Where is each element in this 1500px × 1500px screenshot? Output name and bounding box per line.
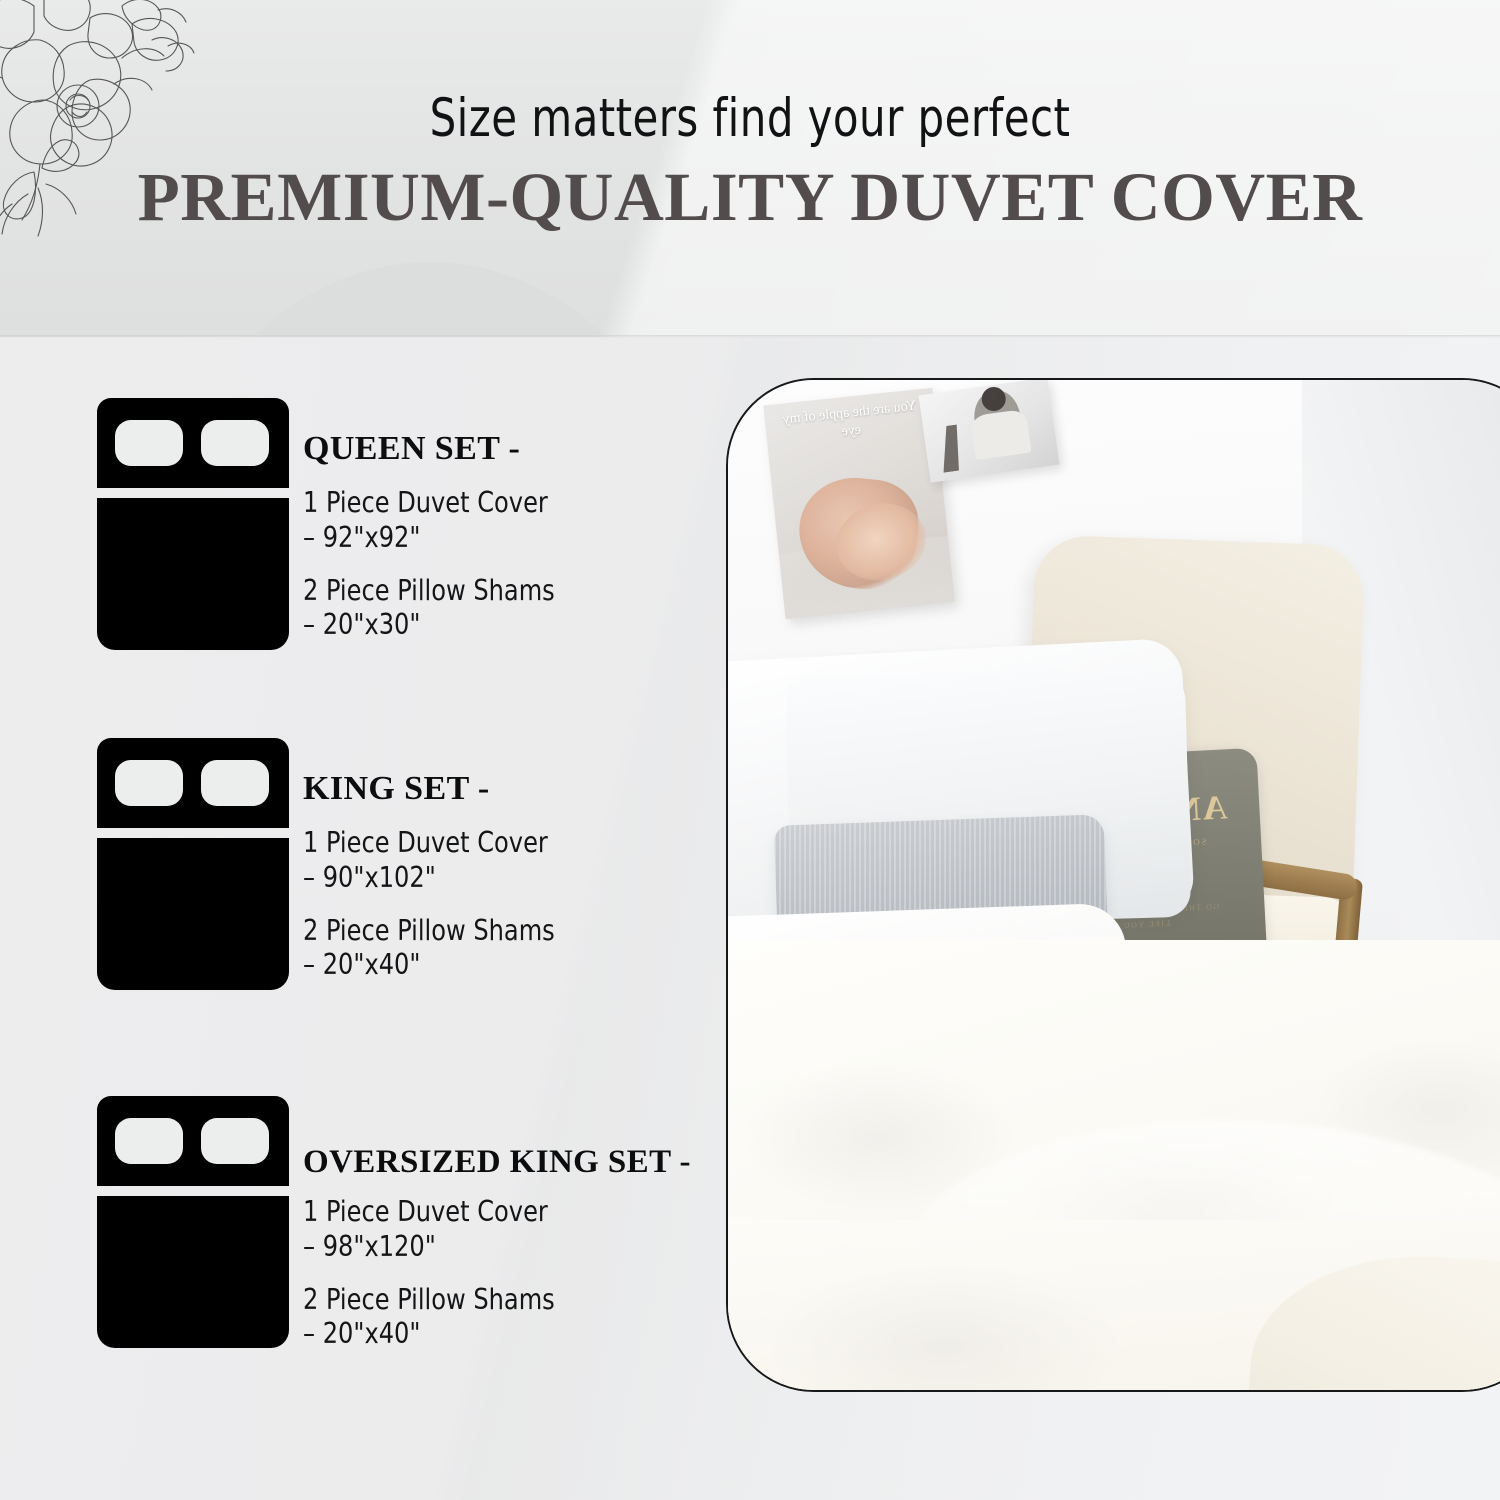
set-line: 2 Piece Pillow Shams xyxy=(303,574,698,609)
set-title: OVERSIZED KING SET - xyxy=(303,1146,723,1179)
set-line: 1 Piece Duvet Cover xyxy=(303,486,698,521)
set-line: – 98"x120" xyxy=(303,1230,698,1265)
infographic-page: Size matters find your perfect PREMIUM-Q… xyxy=(0,0,1500,1500)
poster-text: You are the apple of my eye xyxy=(774,397,927,449)
set-line: 2 Piece Pillow Shams xyxy=(303,1283,698,1318)
set-title: KING SET - xyxy=(303,772,723,806)
bed-icon xyxy=(97,1096,289,1348)
set-line: – 92"x92" xyxy=(303,521,698,556)
set-line: 2 Piece Pillow Shams xyxy=(303,914,698,949)
set-line: – 20"x30" xyxy=(303,608,698,643)
set-line: – 20"x40" xyxy=(303,948,698,983)
set-row: QUEEN SET - 1 Piece Duvet Cover – 92"x92… xyxy=(0,378,730,678)
header: Size matters find your perfect PREMIUM-Q… xyxy=(0,0,1500,270)
bed-icon xyxy=(97,738,289,990)
set-row: OVERSIZED KING SET - 1 Piece Duvet Cover… xyxy=(0,1076,730,1376)
header-kicker: Size matters find your perfect xyxy=(90,88,1410,149)
page-title: PREMIUM-QUALITY DUVET COVER xyxy=(0,158,1500,237)
background-band-divider xyxy=(0,335,1500,338)
size-set-list: QUEEN SET - 1 Piece Duvet Cover – 92"x92… xyxy=(0,370,730,1410)
set-line: 1 Piece Duvet Cover xyxy=(303,826,698,861)
set-title: QUEEN SET - xyxy=(303,432,723,466)
set-row: KING SET - 1 Piece Duvet Cover – 90"x102… xyxy=(0,718,730,1018)
set-line: – 90"x102" xyxy=(303,861,698,896)
set-line: – 20"x40" xyxy=(303,1317,698,1352)
set-text: QUEEN SET - 1 Piece Duvet Cover – 92"x92… xyxy=(303,432,723,643)
wall-poster-right xyxy=(919,378,1060,483)
set-text: OVERSIZED KING SET - 1 Piece Duvet Cover… xyxy=(303,1146,723,1352)
bed-icon xyxy=(97,398,289,650)
set-line: 1 Piece Duvet Cover xyxy=(303,1195,698,1230)
set-text: KING SET - 1 Piece Duvet Cover – 90"x102… xyxy=(303,772,723,983)
bedroom-lifestyle-photo: You are the apple of my eye BORDEN ANYWH… xyxy=(726,378,1500,1392)
